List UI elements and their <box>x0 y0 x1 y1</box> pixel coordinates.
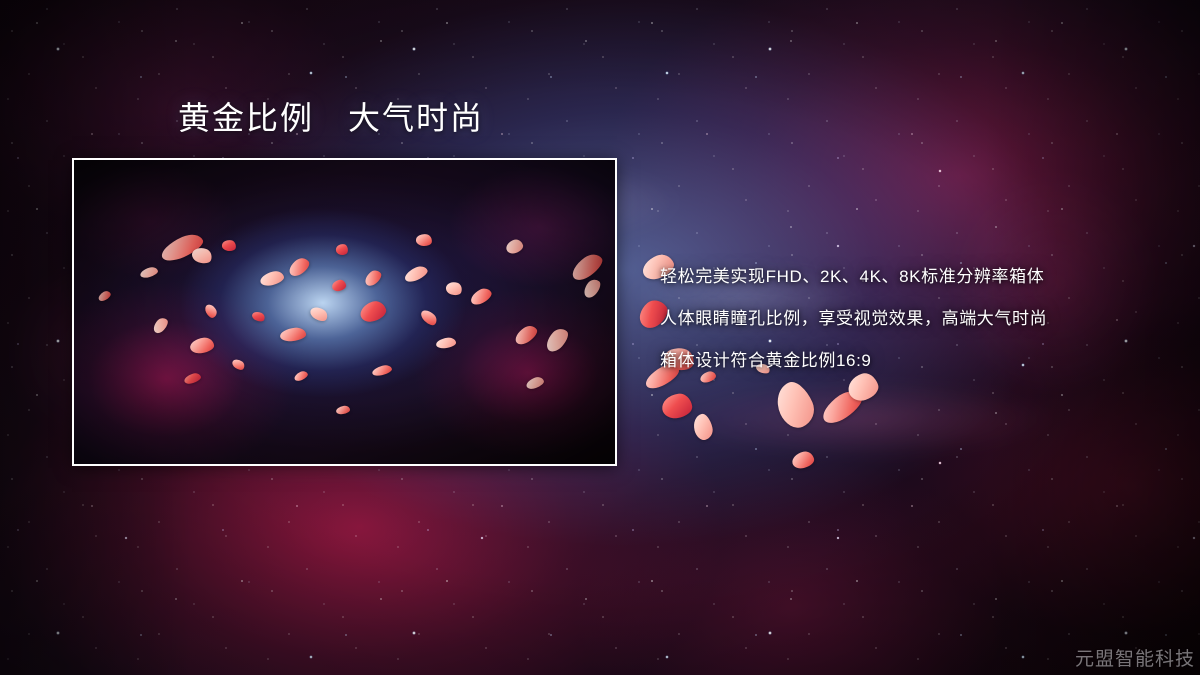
petal-icon <box>790 450 815 471</box>
petal-icon <box>770 377 820 433</box>
petal-icon <box>660 392 693 420</box>
slide-canvas: 黄金比例 大气时尚 <box>0 0 1200 675</box>
preview-image <box>74 160 615 464</box>
preview-vignette <box>74 160 615 464</box>
preview-image-frame <box>72 158 617 466</box>
petal-icon <box>691 412 715 442</box>
copy-line-2: 人体眼睛瞳孔比例，享受视觉效果，高端大气时尚 <box>660 298 1180 340</box>
watermark: 元盟智能科技 <box>1075 644 1195 671</box>
page-title: 黄金比例 大气时尚 <box>178 100 484 137</box>
body-copy: 轻松完美实现FHD、2K、4K、8K标准分辨率箱体 人体眼睛瞳孔比例，享受视觉效… <box>660 256 1180 382</box>
copy-line-1: 轻松完美实现FHD、2K、4K、8K标准分辨率箱体 <box>660 256 1180 298</box>
copy-line-3: 箱体设计符合黄金比例16:9 <box>660 340 1180 382</box>
